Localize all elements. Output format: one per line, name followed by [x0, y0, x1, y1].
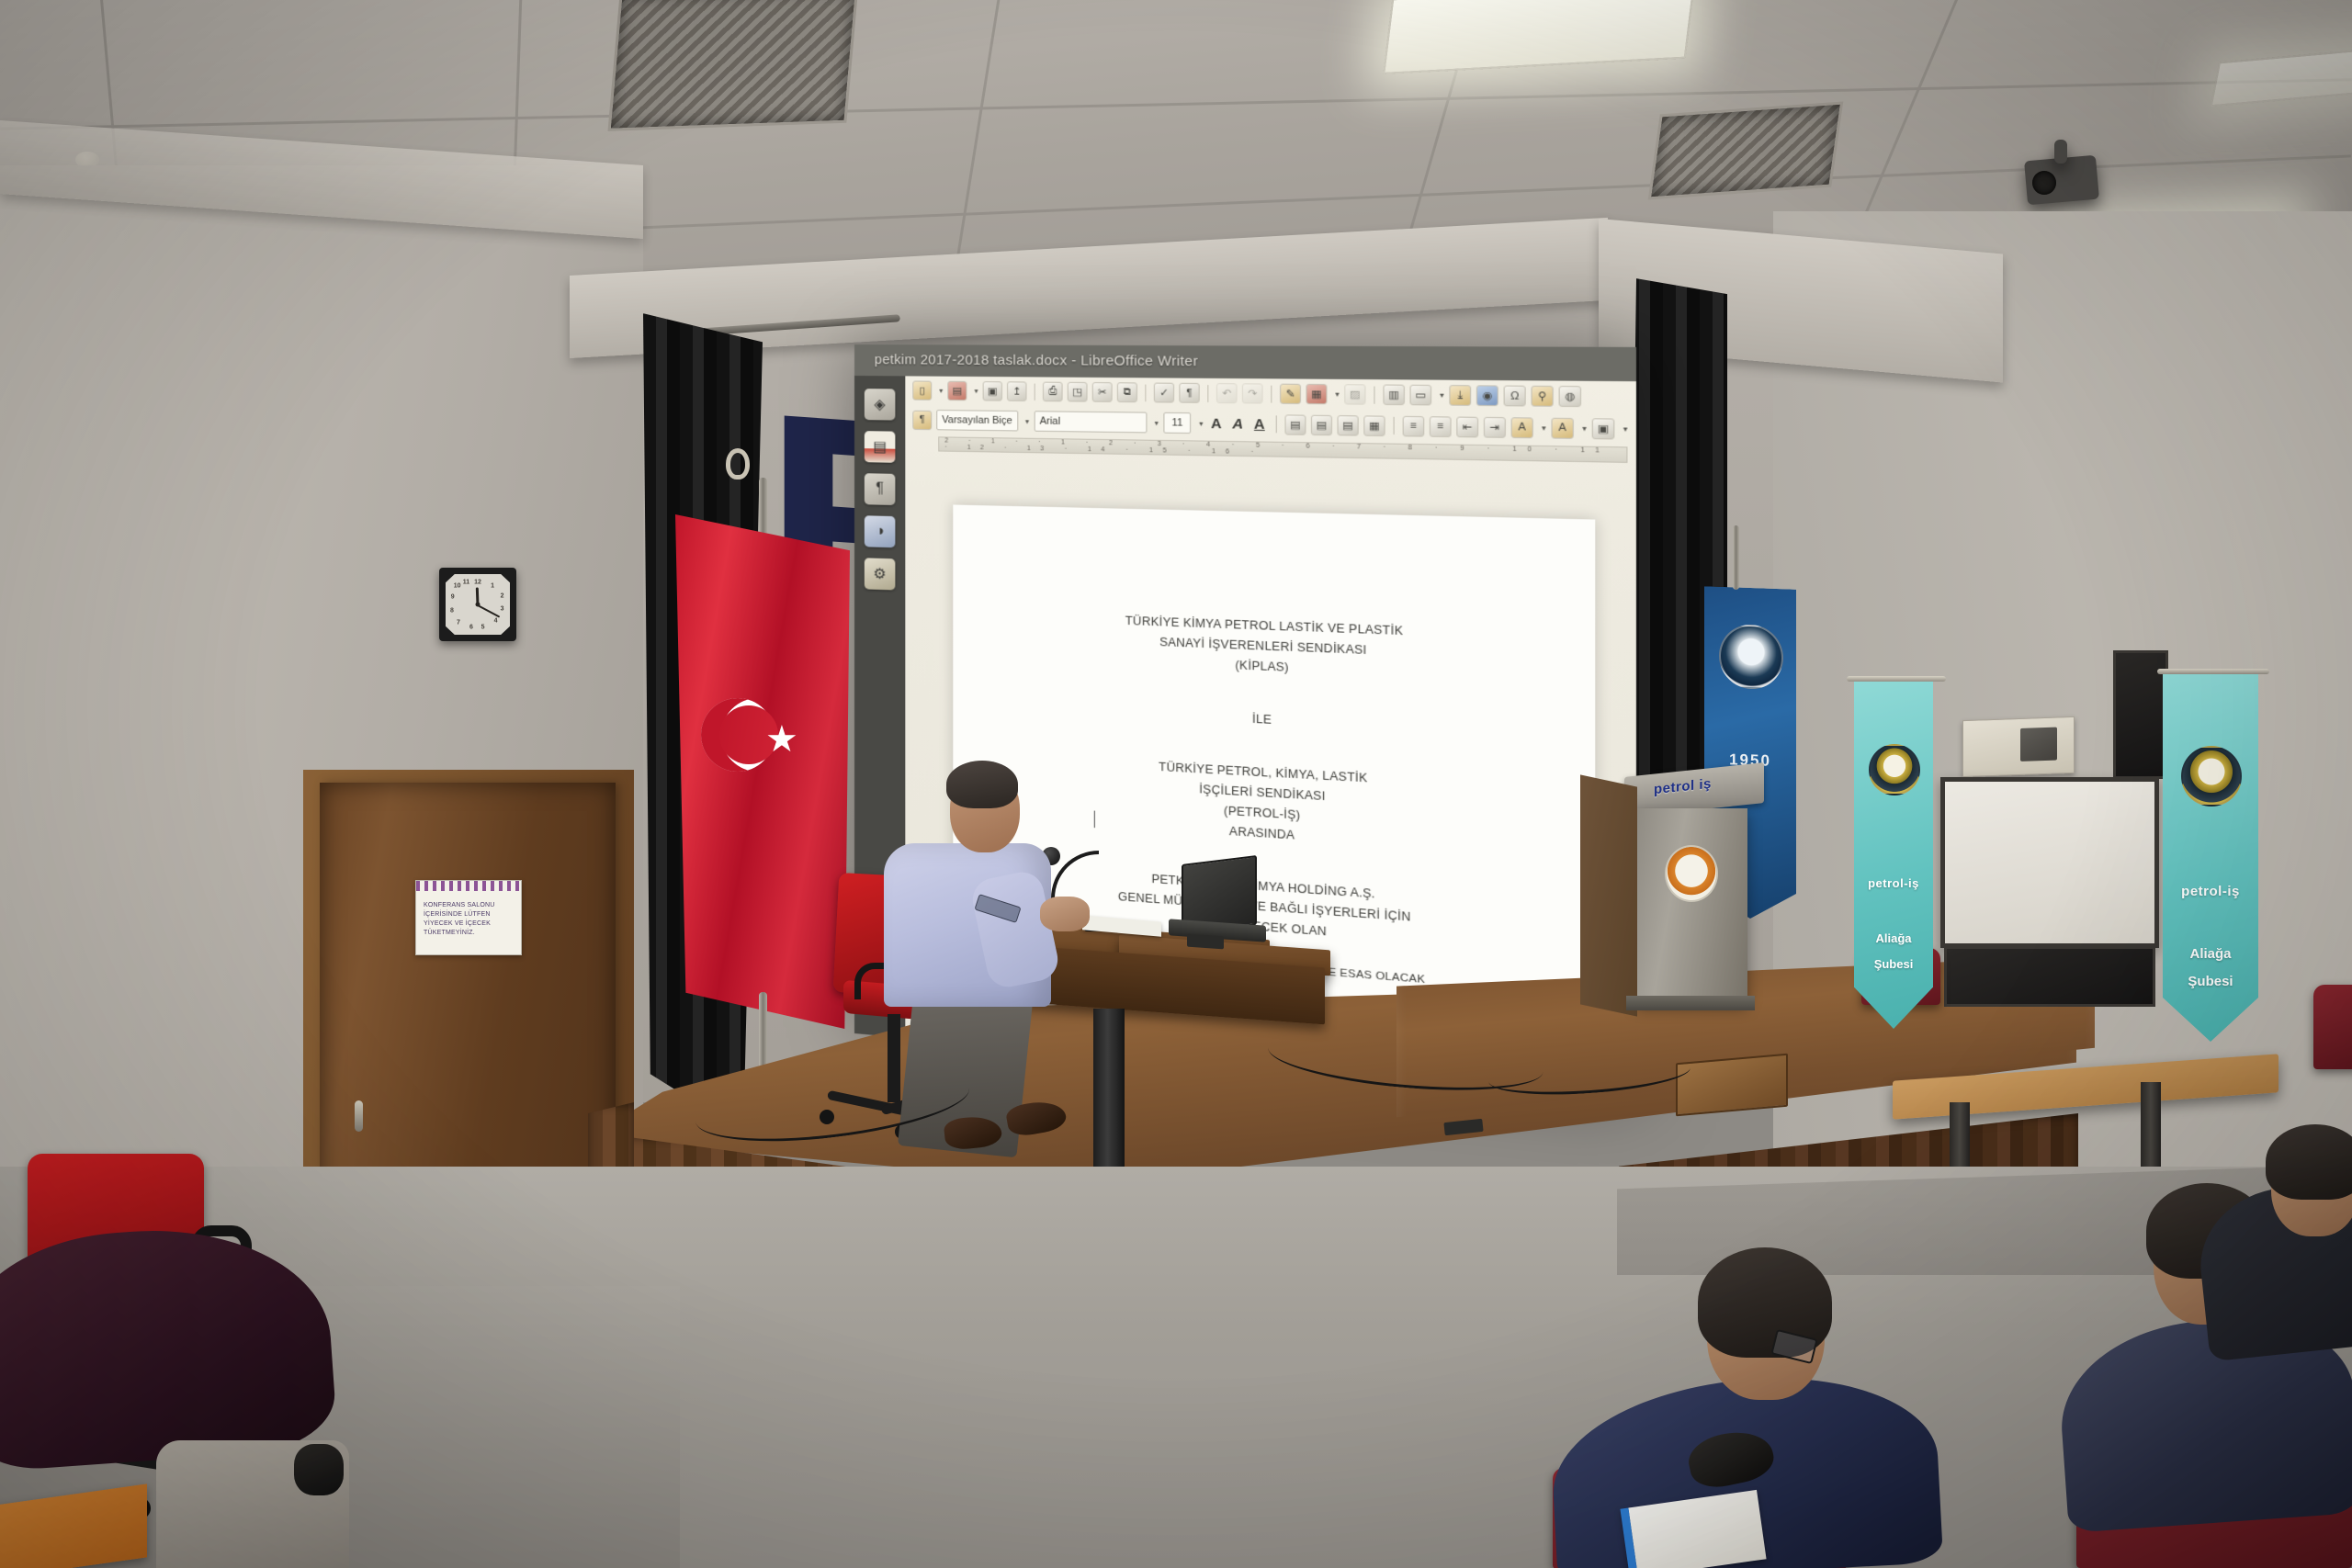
podium-base	[1626, 996, 1755, 1010]
justify-icon[interactable]: ▦	[1363, 415, 1385, 436]
clock-numeral: 11	[463, 580, 469, 586]
export-pdf-icon[interactable]: ↥	[1007, 381, 1026, 401]
paragraph-style-icon[interactable]: ¶	[912, 410, 932, 429]
spelling-check-icon[interactable]: ✓	[1154, 383, 1174, 403]
box-print-graphic	[2020, 728, 2057, 761]
font-color-icon[interactable]: A	[1551, 417, 1573, 438]
audience-front-left-object	[294, 1444, 344, 1495]
decrease-indent-icon[interactable]: ⇤	[1456, 416, 1478, 437]
styles-icon[interactable]: ¶	[865, 473, 896, 505]
clock-center-pin	[476, 603, 481, 607]
new-document-icon[interactable]: ▯	[912, 380, 932, 400]
clock-numeral: 8	[450, 607, 454, 614]
crescent-icon	[701, 698, 775, 772]
underline-icon[interactable]: A	[1251, 416, 1268, 433]
special-character-icon[interactable]: Ω	[1504, 386, 1526, 407]
banner-branch-line2: Şubesi	[2163, 974, 2258, 989]
hyperlink-icon[interactable]: ⚲	[1532, 386, 1554, 407]
red-seat-far-right	[2313, 985, 2352, 1069]
cut-icon[interactable]: ✂	[1092, 382, 1113, 402]
italic-icon[interactable]: A	[1229, 415, 1246, 432]
door-sign-line: TÜKETMEYİNİZ.	[424, 929, 514, 938]
formatting-marks-icon[interactable]: ¶	[1179, 383, 1199, 403]
undo-icon[interactable]: ↶	[1216, 383, 1238, 403]
wooden-crate-on-stage	[1676, 1054, 1788, 1117]
clock-numeral: 1	[491, 582, 494, 589]
redo-icon[interactable]: ↷	[1242, 383, 1263, 403]
star-icon: ★	[765, 721, 798, 758]
print-icon[interactable]: ⎙	[1043, 382, 1063, 402]
open-file-icon[interactable]: ▤	[947, 381, 967, 400]
turkish-flag: ★	[675, 514, 850, 1029]
font-size-field[interactable]: 11	[1163, 412, 1191, 434]
clock-numeral: 9	[451, 594, 455, 601]
shapes-icon[interactable]: ◑	[865, 515, 896, 547]
projector-mount	[2054, 140, 2067, 164]
footnote-icon[interactable]: ◍	[1559, 386, 1581, 407]
text-cursor	[1094, 811, 1095, 829]
projector-lens-icon	[2032, 171, 2056, 195]
clock-numeral: 3	[501, 606, 504, 613]
insert-image-icon[interactable]: ▨	[1344, 384, 1365, 405]
presenter-hands	[1040, 897, 1090, 931]
print-preview-icon[interactable]: ◳	[1068, 382, 1088, 402]
save-icon[interactable]: ▣	[983, 381, 1002, 401]
philips-cardboard-box	[1962, 716, 2075, 777]
podium-side-wood	[1580, 774, 1637, 1016]
banner-rod-left	[1847, 676, 1946, 682]
banner-rod-right	[2157, 669, 2269, 674]
door-handle[interactable]	[355, 1100, 363, 1132]
union-emblem-icon	[1869, 744, 1920, 795]
table-remote[interactable]	[1187, 934, 1224, 950]
page-break-icon[interactable]: ⤓	[1449, 385, 1471, 406]
highlight-color-icon[interactable]: A	[1511, 417, 1533, 438]
presenter-hair	[946, 761, 1018, 808]
union-banner-left: petrol-iş Aliağa Şubesi	[1854, 682, 1933, 1029]
podium-emblem-icon	[1665, 845, 1718, 902]
union-crest-icon	[1719, 624, 1783, 690]
door-sign-line: İÇERİSİNDE LÜTFEN	[424, 910, 514, 919]
clock-numeral: 10	[454, 583, 461, 590]
banner-branch-line2: Şubesi	[1854, 957, 1933, 971]
unordered-list-icon[interactable]: ≡	[1403, 415, 1425, 436]
flag-finial	[726, 448, 750, 479]
insert-field-icon[interactable]: ◉	[1476, 385, 1498, 406]
clock-face: 12 1 2 3 4 5 6 7 8 9 10 11	[446, 574, 510, 635]
ceiling-vent-left	[607, 0, 858, 131]
paragraph-background-icon[interactable]: ▣	[1592, 418, 1615, 439]
conference-hall-scene: P Ş petkim 2017-2018 taslak.docx - Libre…	[0, 0, 2352, 1568]
increase-indent-icon[interactable]: ⇥	[1484, 416, 1506, 437]
banner-org-label: petrol-iş	[1854, 876, 1933, 890]
copy-icon[interactable]: ⧉	[1117, 382, 1137, 402]
union-flag-pole	[1733, 525, 1739, 590]
clock-minute-hand	[478, 604, 501, 617]
clock-numeral: 6	[469, 625, 473, 631]
clock-numeral: 2	[501, 593, 504, 600]
wall-clock: 12 1 2 3 4 5 6 7 8 9 10 11	[439, 568, 516, 641]
whiteboard-panel	[1940, 777, 2159, 948]
door-sign: KONFERANS SALONU İÇERİSİNDE LÜTFEN YİYEC…	[415, 880, 522, 955]
font-name-field[interactable]: Arial	[1034, 411, 1147, 433]
banner-branch-line1: Aliağa	[2163, 946, 2258, 962]
navigator-icon[interactable]: ◈	[865, 389, 896, 420]
ordered-list-icon[interactable]: ≡	[1430, 416, 1452, 437]
insert-chart-icon[interactable]: ▥	[1383, 385, 1404, 406]
align-left-icon[interactable]: ▤	[1284, 414, 1306, 434]
properties-icon[interactable]: ⚙	[865, 558, 896, 590]
door-sign-line: KONFERANS SALONU	[424, 901, 514, 910]
union-banner-right: petrol-iş Aliağa Şubesi	[2163, 674, 2258, 1042]
clock-numeral: 5	[481, 625, 485, 631]
banner-org-label: petrol-iş	[2163, 884, 2258, 899]
equipment-rack	[1944, 946, 2155, 1007]
align-right-icon[interactable]: ▤	[1337, 415, 1358, 436]
paragraph-style-field[interactable]: Varsayılan Biçe	[936, 410, 1018, 431]
insert-table-icon[interactable]: ▦	[1306, 384, 1327, 404]
union-emblem-icon	[2181, 746, 2242, 807]
clock-numeral: 4	[494, 618, 498, 625]
insert-textbox-icon[interactable]: ▭	[1410, 385, 1432, 406]
align-center-icon[interactable]: ▤	[1311, 414, 1332, 435]
podium-body	[1635, 808, 1747, 1003]
clock-numeral: 12	[474, 580, 481, 586]
clone-formatting-icon[interactable]: ✎	[1280, 384, 1301, 404]
door-sign-line: YİYECEK VE İÇECEK	[424, 919, 514, 929]
door-sign-header-strip	[416, 881, 521, 891]
presenter-table-leg	[1093, 1009, 1125, 1185]
gallery-icon[interactable]: ▤	[865, 431, 896, 463]
ceiling-vent-right	[1648, 101, 1844, 199]
banner-branch-line1: Aliağa	[1854, 931, 1933, 945]
clock-numeral: 7	[457, 619, 460, 626]
audience-rear-right-hair	[2266, 1124, 2352, 1200]
bold-icon[interactable]: A	[1208, 415, 1225, 432]
